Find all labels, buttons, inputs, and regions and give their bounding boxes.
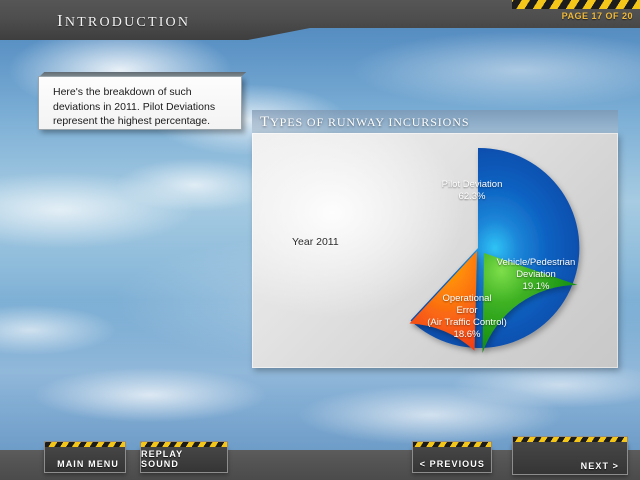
page-title-text: NTRODUCTION	[65, 15, 190, 30]
pie-year-annotation: Year 2011	[292, 236, 339, 248]
replay-sound-label: REPLAY SOUND	[141, 449, 221, 469]
hazard-stripe-icon	[412, 441, 492, 447]
previous-button[interactable]: < PREVIOUS	[412, 447, 492, 473]
pie-label-operational-error: Operational Error (Air Traffic Control) …	[407, 293, 527, 341]
next-label: NEXT >	[581, 461, 619, 471]
callout-box: Here's the breakdown of such deviations …	[38, 76, 242, 130]
hazard-stripe-icon	[140, 441, 228, 447]
hazard-stripe-icon	[512, 436, 628, 442]
previous-label: < PREVIOUS	[420, 459, 485, 469]
chart-panel-body: Year 2011 Pilot Deviation 62.3% Vehicle/…	[252, 133, 618, 368]
chart-panel-titlebar: TYPES OF RUNWAY INCURSIONS	[252, 110, 618, 134]
pie-label-pilot-deviation: Pilot Deviation 62.3%	[407, 179, 537, 203]
callout-text: Here's the breakdown of such deviations …	[53, 85, 233, 129]
hazard-stripe-icon	[44, 441, 126, 447]
pie-label-vehicle-pedestrian: Vehicle/Pedestrian Deviation 19.1%	[477, 257, 595, 293]
main-menu-button[interactable]: MAIN MENU	[44, 447, 126, 473]
page-indicator: PAGE 17 OF 20	[562, 11, 633, 21]
hazard-stripe-icon	[512, 0, 640, 9]
page-title: INTRODUCTION	[57, 11, 190, 31]
chart-panel: TYPES OF RUNWAY INCURSIONS	[252, 110, 618, 368]
next-button[interactable]: NEXT >	[512, 442, 628, 475]
main-menu-label: MAIN MENU	[57, 459, 119, 469]
chart-title: TYPES OF RUNWAY INCURSIONS	[260, 114, 469, 131]
pie-chart: Year 2011 Pilot Deviation 62.3% Vehicle/…	[252, 133, 618, 368]
replay-sound-button[interactable]: REPLAY SOUND	[140, 447, 228, 473]
slide-stage: INTRODUCTION PAGE 17 OF 20 Here's the br…	[0, 0, 640, 480]
